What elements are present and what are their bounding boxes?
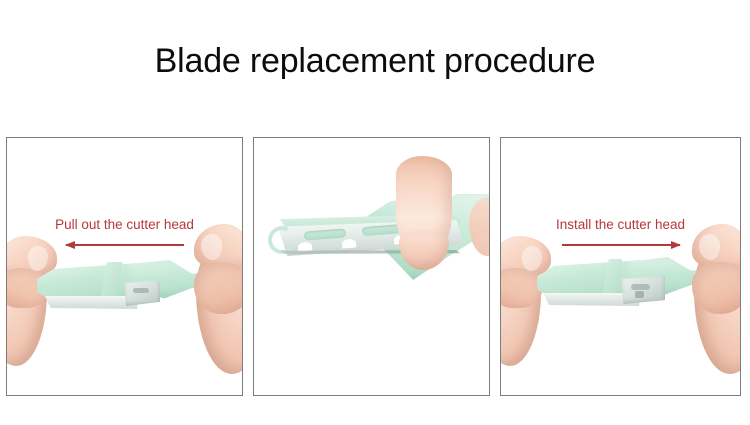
panel-caption-install: Install the cutter head bbox=[501, 217, 740, 233]
thumb-edge bbox=[469, 198, 490, 256]
arrow-left bbox=[66, 239, 184, 251]
panel-strip: Pull out the cutter head bbox=[6, 137, 745, 398]
blade-socket-pin bbox=[635, 291, 644, 298]
right-fingernail bbox=[201, 234, 222, 260]
scene-blade-detail bbox=[254, 138, 489, 395]
blade-socket bbox=[621, 276, 665, 304]
right-thumb bbox=[692, 262, 741, 314]
panel-caption-pull-out: Pull out the cutter head bbox=[7, 217, 242, 233]
panel-pull-out[interactable]: Pull out the cutter head bbox=[6, 137, 243, 396]
arrow-left-head bbox=[65, 241, 75, 249]
blade-notch bbox=[342, 238, 357, 248]
right-thumb bbox=[194, 262, 243, 314]
blade-socket bbox=[124, 280, 160, 306]
scene-pull-out bbox=[7, 138, 242, 395]
blade-socket-slot bbox=[631, 284, 650, 290]
arrow-right bbox=[562, 239, 680, 251]
blade-notch bbox=[298, 241, 313, 251]
scene-install bbox=[501, 138, 740, 395]
arrow-right-head bbox=[671, 241, 681, 249]
blade-socket-slot bbox=[133, 288, 149, 293]
panel-blade-detail[interactable] bbox=[253, 137, 490, 396]
arrow-right-line bbox=[562, 244, 680, 246]
right-fingernail bbox=[699, 234, 720, 260]
page-title: Blade replacement procedure bbox=[0, 38, 750, 84]
panel-install[interactable]: Install the cutter head bbox=[500, 137, 741, 396]
cutter-head-blade bbox=[43, 296, 139, 309]
arrow-left-line bbox=[66, 244, 184, 246]
